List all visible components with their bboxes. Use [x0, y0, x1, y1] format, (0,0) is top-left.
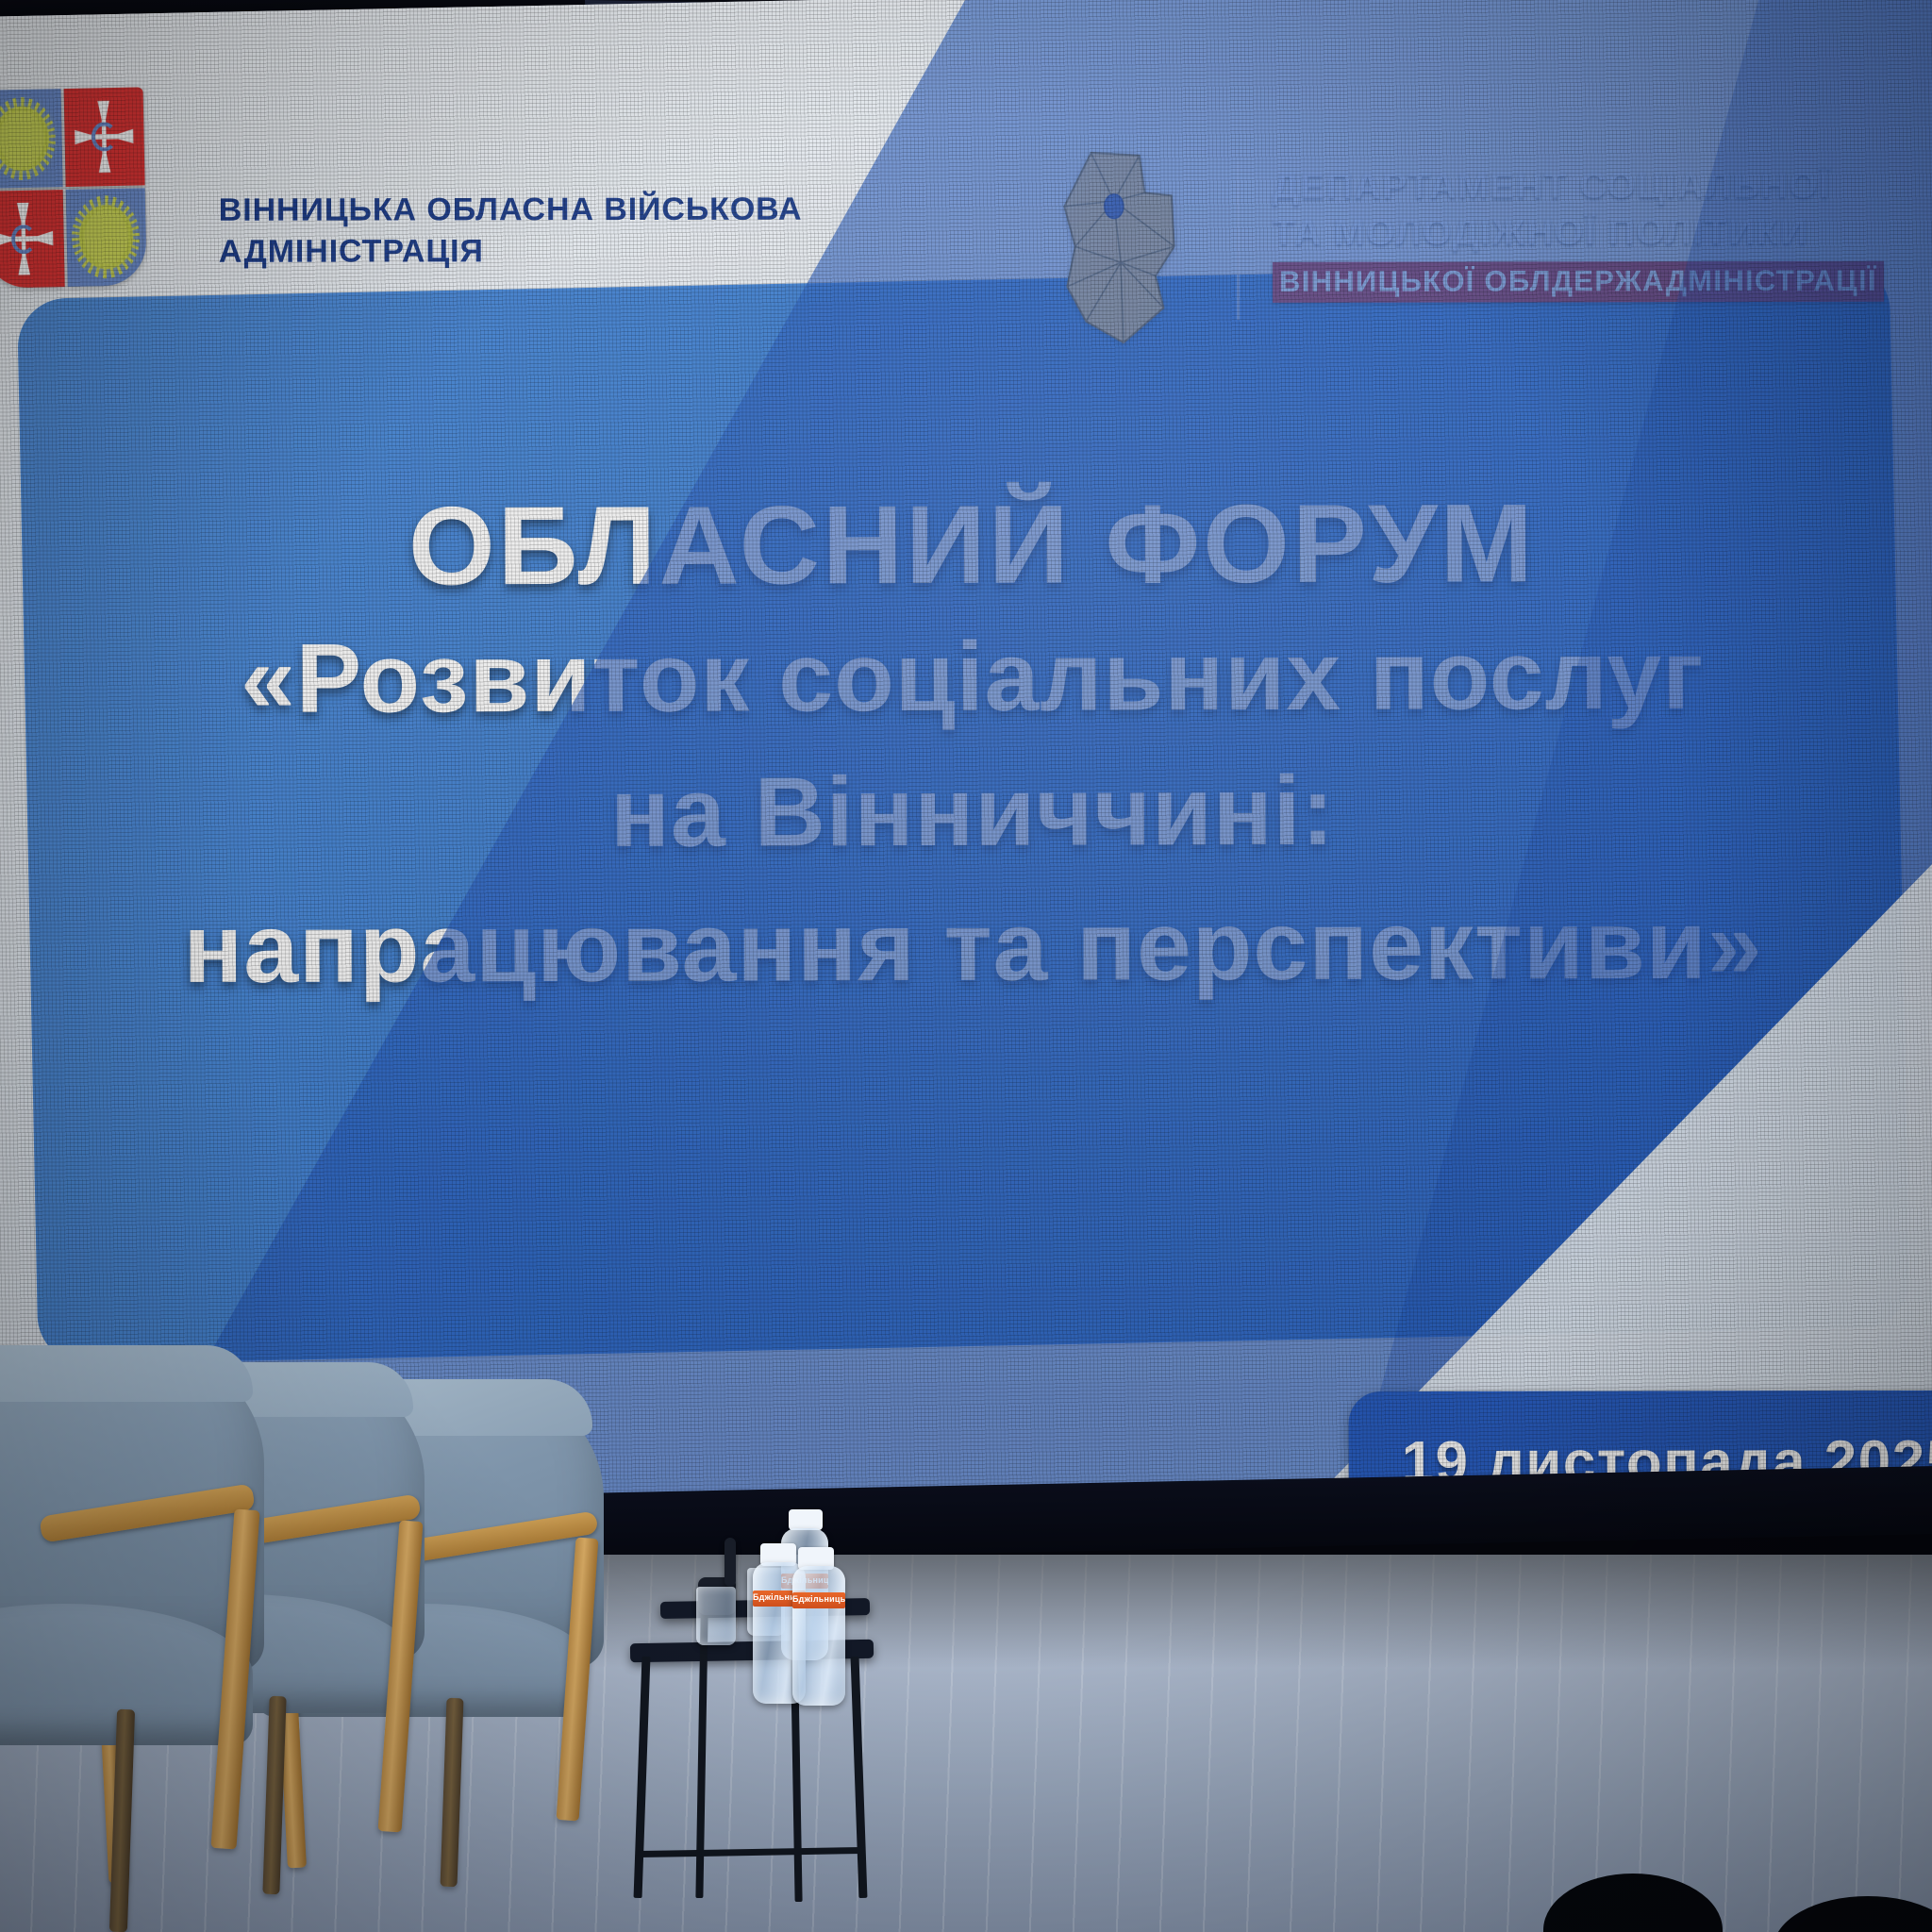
- slide-header: ВІННИЦЬКА ОБЛАСНА ВІЙСЬКОВА АДМІНІСТРАЦІ…: [0, 0, 1932, 300]
- forum-title-sub-2: на Вінниччині:: [48, 749, 1897, 875]
- forum-title-sub-3: напрацювання та перспективи»: [48, 884, 1897, 1010]
- oda-name-block: ВІННИЦЬКА ОБЛАСНА ВІЙСЬКОВА АДМІНІСТРАЦІ…: [219, 188, 936, 273]
- department-name-block: ДЕПАРТАМЕНТ СОЦІАЛЬНОЇ ТА МОЛОДІЖНОЇ ПОЛ…: [1273, 162, 1914, 303]
- sun-icon: [0, 110, 44, 166]
- forum-title-sub-1: «Розвиток соціальних послуг: [48, 614, 1897, 741]
- cross-crescent-icon: [0, 202, 54, 275]
- oda-line-1: ВІННИЦЬКА ОБЛАСНА ВІЙСЬКОВА: [219, 188, 936, 231]
- department-logo-block: ДЕПАРТАМЕНТ СОЦІАЛЬНОЇ ТА МОЛОДІЖНОЇ ПОЛ…: [1041, 136, 1918, 374]
- department-line-3-highlight: ВІННИЦЬКОЇ ОБЛДЕРЖАДМІНІСТРАЦІЇ: [1273, 261, 1884, 303]
- vinnytsia-coat-of-arms-icon: [0, 87, 147, 288]
- cross-crescent-icon: [74, 100, 134, 174]
- led-wall-screen: ВІННИЦЬКА ОБЛАСНА ВІЙСЬКОВА АДМІНІСТРАЦІ…: [0, 0, 1932, 1526]
- microphone-stem: [724, 1538, 736, 1587]
- sun-icon: [83, 209, 128, 265]
- drinking-glass: [696, 1587, 736, 1645]
- logo-divider: [1237, 161, 1240, 320]
- department-line-1: ДЕПАРТАМЕНТ СОЦІАЛЬНОЇ: [1273, 162, 1914, 209]
- oda-line-2: АДМІНІСТРАЦІЯ: [219, 230, 936, 274]
- vinnytsia-region-map-icon: [1041, 146, 1201, 349]
- slide-title-block: ОБЛАСНИЙ ФОРУМ «Розвиток соціальних посл…: [47, 485, 1897, 1010]
- bottle-label-text: Бджільницька: [792, 1592, 845, 1607]
- forum-title-main: ОБЛАСНИЙ ФОРУМ: [47, 485, 1896, 606]
- department-line-2: ТА МОЛОДІЖНОЇ ПОЛІТИКИ: [1273, 208, 1914, 256]
- conference-stage-scene: ВІННИЦЬКА ОБЛАСНА ВІЙСЬКОВА АДМІНІСТРАЦІ…: [0, 0, 1932, 1932]
